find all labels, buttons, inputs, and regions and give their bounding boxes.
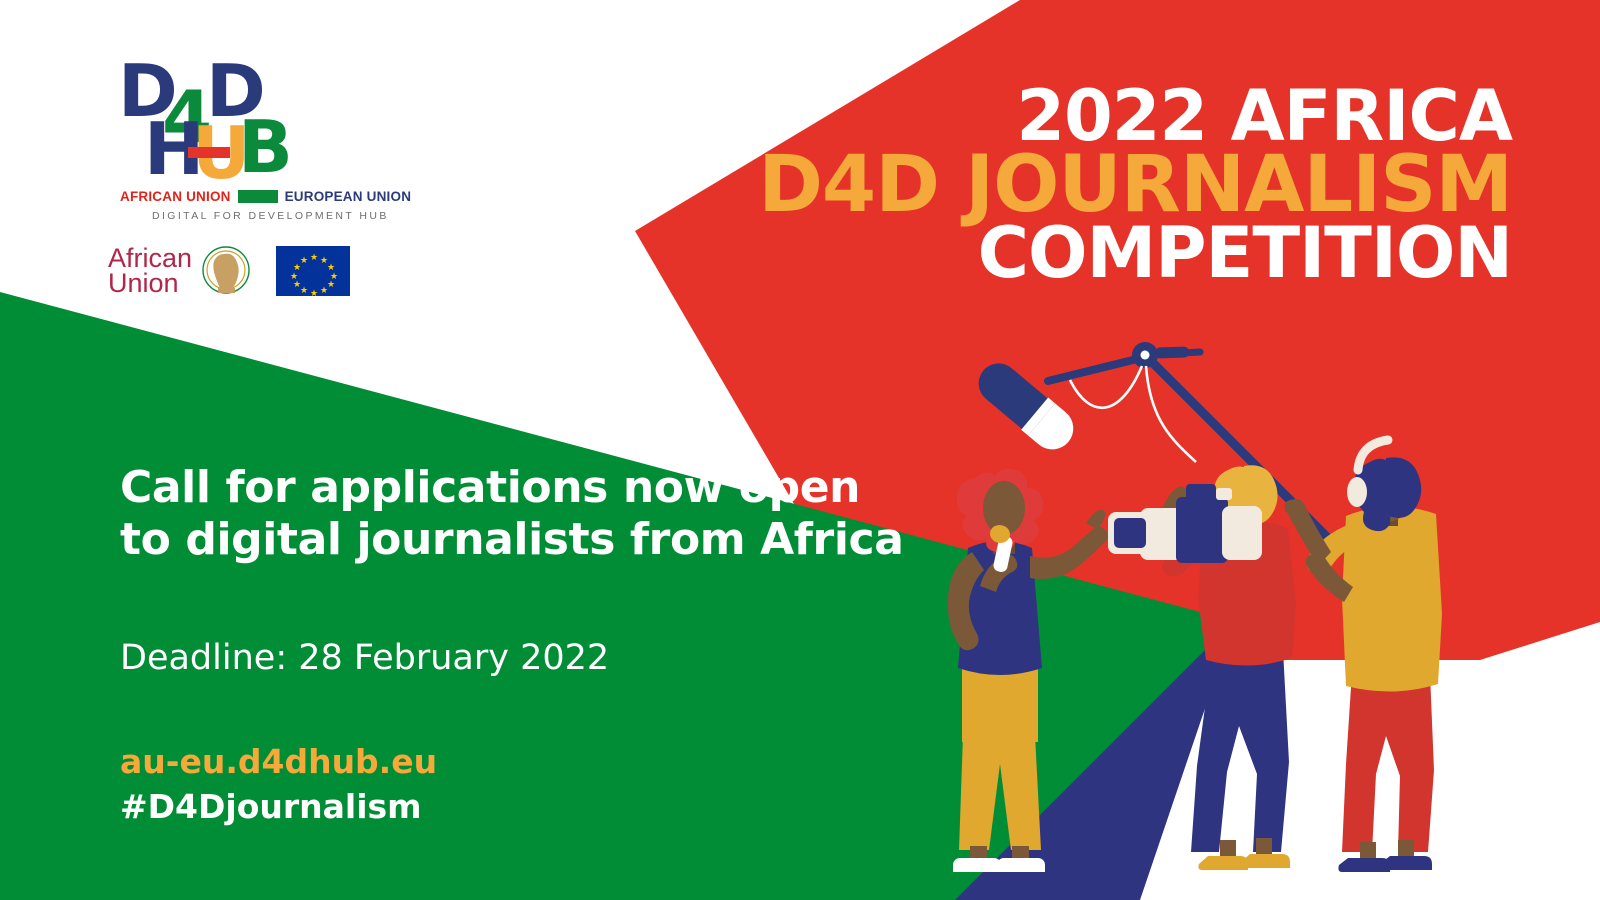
european-union-label: EUROPEAN UNION — [285, 189, 412, 204]
poster-canvas: D 4 D H U B AFRICAN UNION EUROPEAN UNION… — [0, 0, 1600, 900]
website-url-link[interactable]: au-eu.d4dhub.eu — [120, 742, 880, 781]
deadline-text: Deadline: 28 February 2022 — [120, 638, 880, 678]
african-union-logo-line2: Union — [108, 271, 192, 296]
wordmark-red-dash-accent — [188, 147, 230, 158]
hashtag-text: #D4Djournalism — [120, 787, 880, 826]
wordmark-letter-b: B — [238, 111, 293, 183]
poster-title: 2022 AFRICA D4D JOURNALISM COMPETITION — [758, 82, 1512, 288]
figure-reporter-with-microphone — [948, 469, 1108, 872]
figure-camera-operator — [1108, 465, 1296, 870]
partner-logos: African Union ★ ★ ★ ★ ★ ★ ★ ★ ★ — [108, 244, 478, 298]
copy-block: Call for applications now open to digita… — [120, 462, 880, 826]
logo-union-line: AFRICAN UNION EUROPEAN UNION — [120, 189, 478, 204]
headline-line-1: Call for applications now open — [120, 462, 880, 514]
d4dhub-wordmark: D 4 D H U B — [118, 55, 348, 185]
african-union-logo: African Union — [108, 244, 254, 298]
headline-line-2: to digital journalists from Africa — [120, 514, 880, 566]
logo-tagline: DIGITAL FOR DEVELOPMENT HUB — [152, 210, 478, 222]
figure-boom-operator — [1285, 440, 1442, 872]
logo-block: D 4 D H U B AFRICAN UNION EUROPEAN UNION… — [118, 55, 478, 298]
african-union-logo-text: African Union — [108, 246, 192, 296]
european-union-flag-icon: ★ ★ ★ ★ ★ ★ ★ ★ ★ ★ ★ ★ — [276, 246, 350, 296]
african-union-emblem-icon — [198, 244, 254, 298]
